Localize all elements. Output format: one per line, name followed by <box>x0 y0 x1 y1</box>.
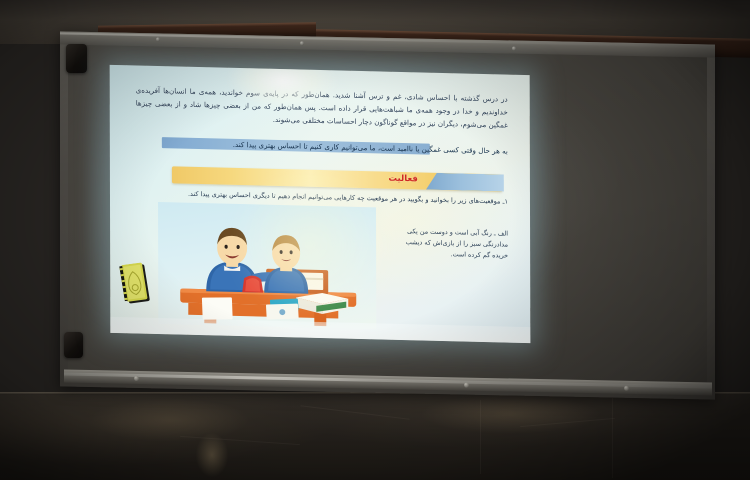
lesson-paragraph: در درس گذشته با احساس شادی، غم و ترس آشن… <box>136 83 508 132</box>
tray-screw <box>134 376 139 381</box>
wall-crack <box>300 405 409 419</box>
mounting-bracket-bottom-left <box>64 332 83 358</box>
wall-crack <box>180 436 300 445</box>
lower-wall <box>0 392 750 480</box>
frame-screw <box>300 41 304 45</box>
highlighted-sentence-text: به هر حال وقتی کسی غمگین یا ناامید است، … <box>233 140 508 156</box>
wall-stain <box>195 432 229 478</box>
wall-smudge <box>90 398 250 442</box>
tray-screw <box>624 386 629 391</box>
activity-banner: فعالیت <box>172 166 502 191</box>
two-students-at-desk-illustration <box>158 202 376 329</box>
banner-chevron-icon <box>426 173 504 192</box>
highlighted-sentence: به هر حال وقتی کسی غمگین یا ناامید است، … <box>136 136 508 157</box>
case-alef-text: الف ـ رنگ آبی است و دوست من یکی مدادرنگی… <box>388 226 508 262</box>
notebook-icon <box>119 262 152 307</box>
illustration-panel <box>158 202 376 329</box>
projected-textbook-page: در درس گذشته با احساس شادی، غم و ترس آشن… <box>110 65 531 343</box>
wall-crack <box>612 398 613 478</box>
wall-smudge <box>420 394 600 434</box>
frame-screw <box>512 46 516 50</box>
activity-banner-label: فعالیت <box>388 174 418 185</box>
tray-screw <box>464 383 469 388</box>
frame-screw <box>156 37 160 41</box>
classroom-scene: در درس گذشته با احساس شادی، غم و ترس آشن… <box>0 0 750 480</box>
wall-crack <box>480 400 481 474</box>
mounting-bracket-top-left <box>66 44 87 73</box>
wall-crack <box>520 418 615 427</box>
